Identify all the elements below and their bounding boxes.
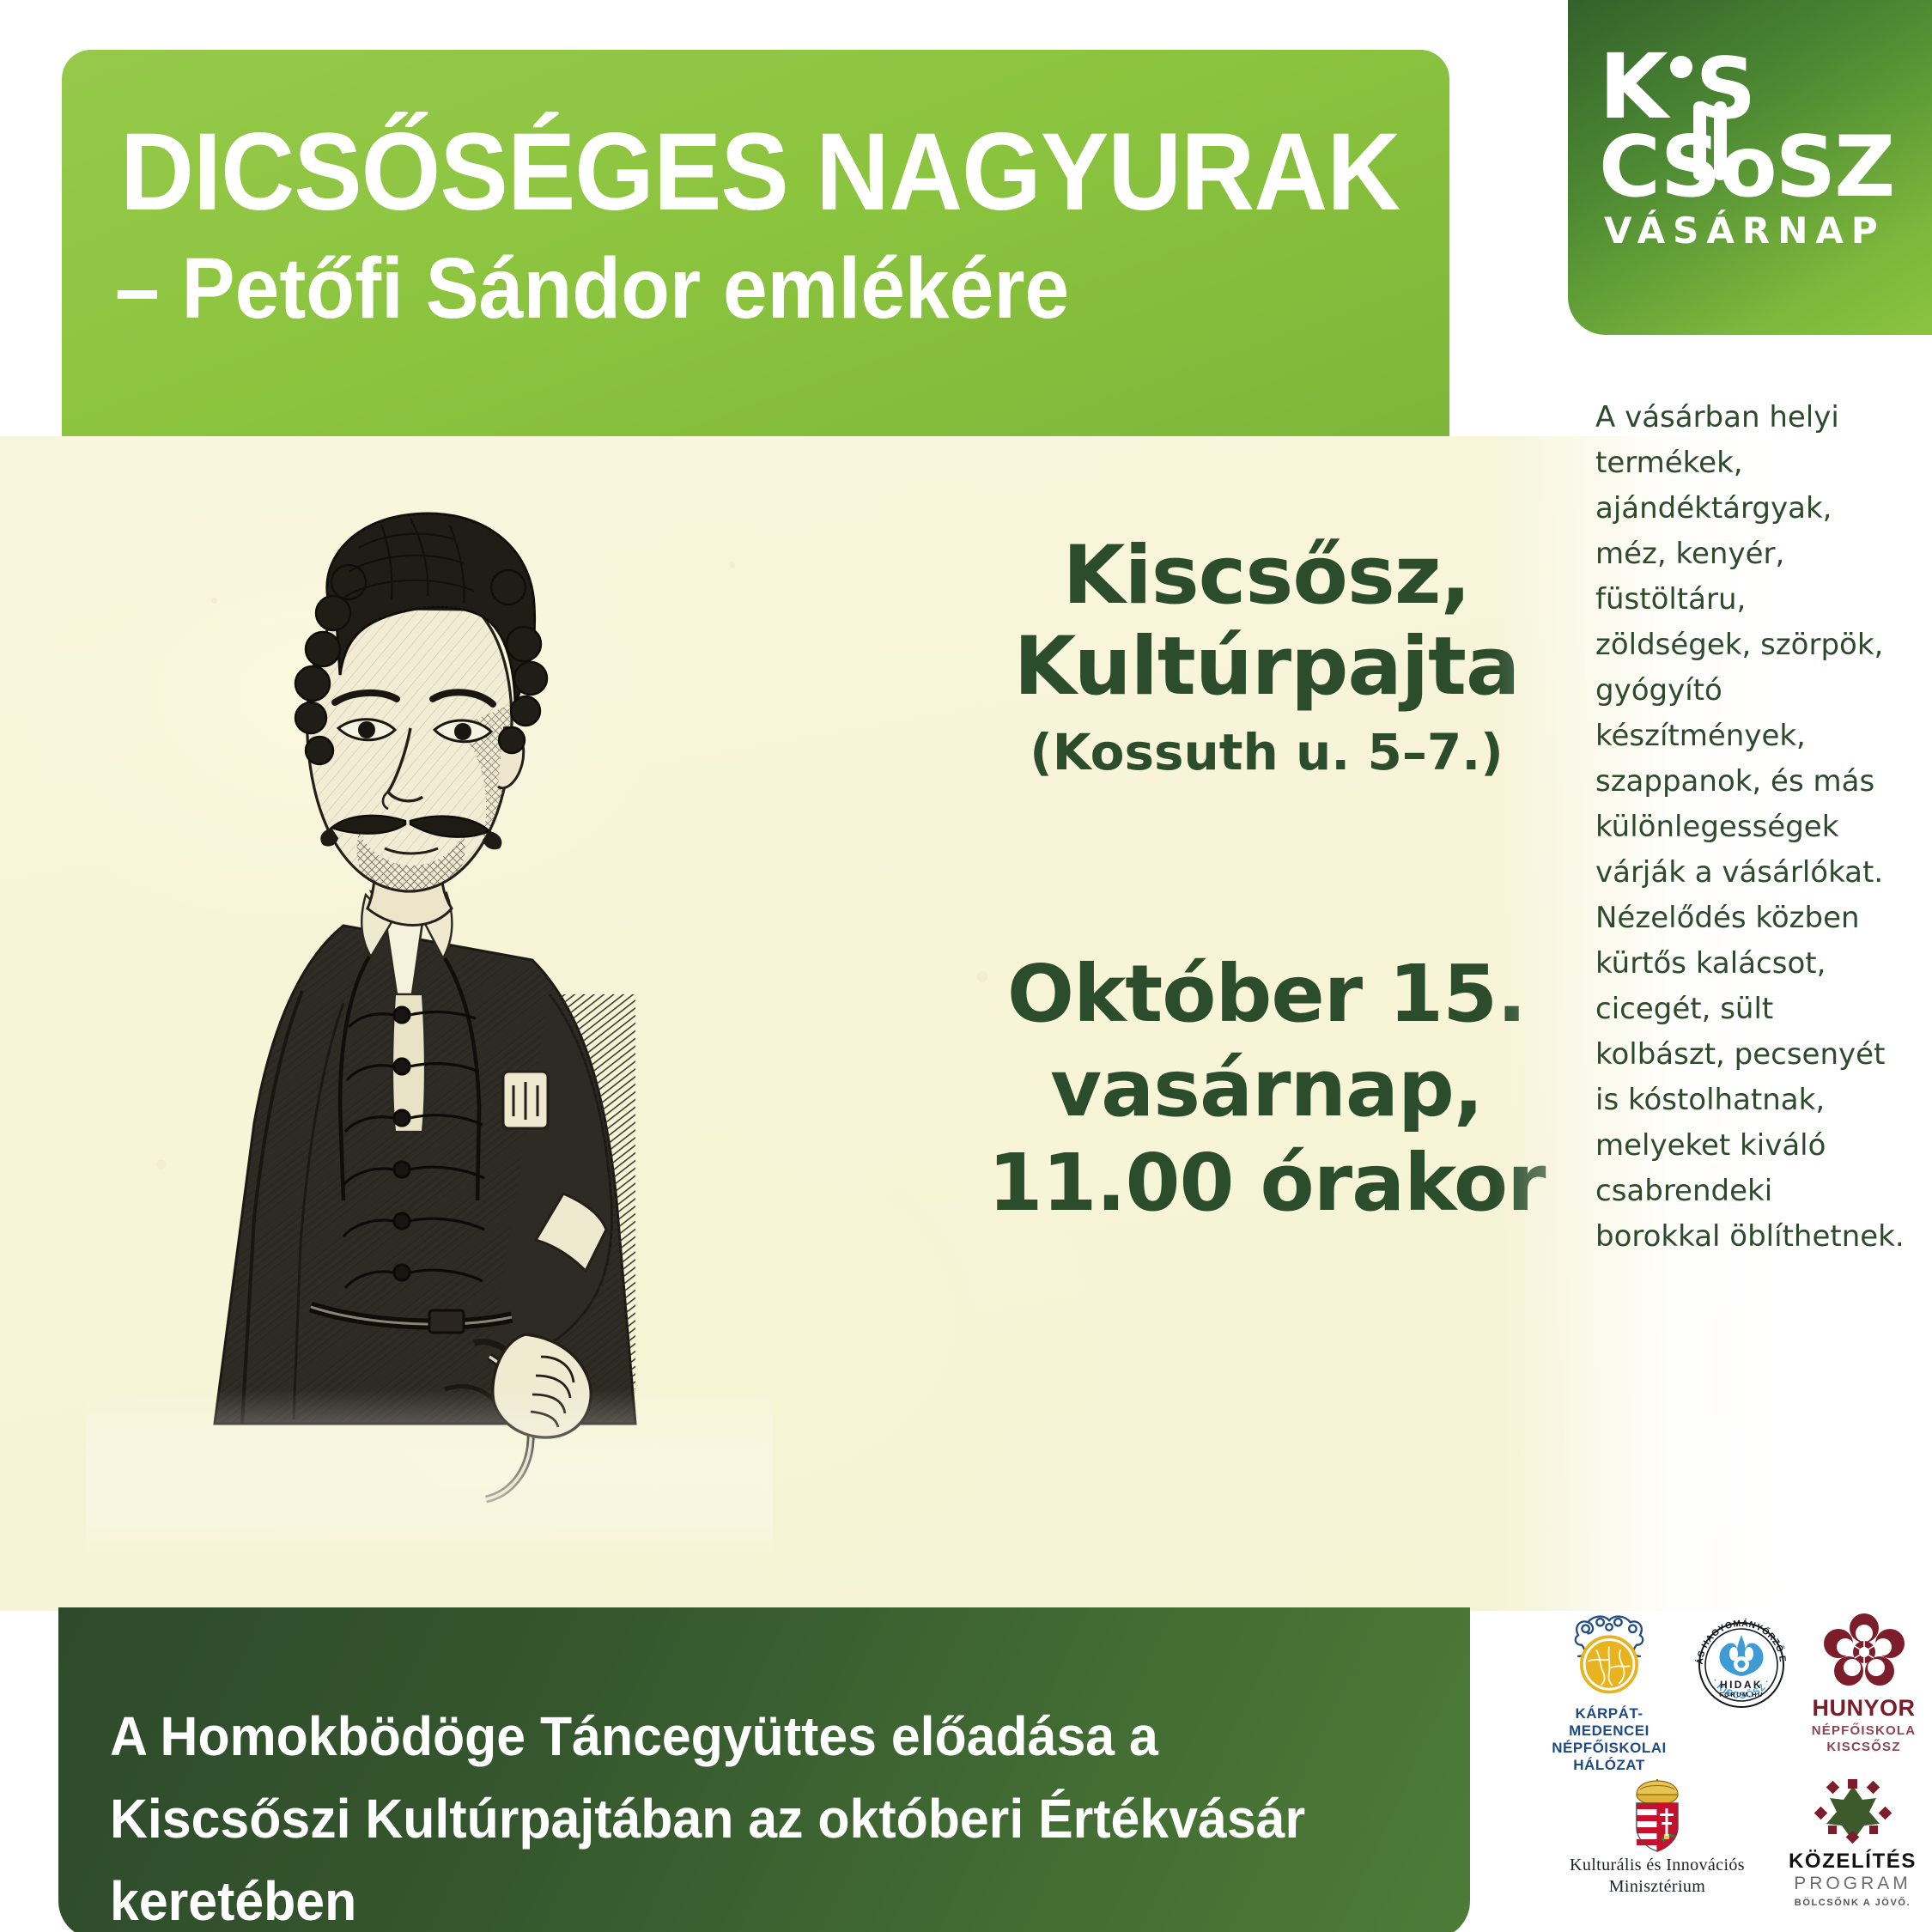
circular-seal-icon: ÉLŐ FORRÁS HAGYOMÁNYŐRZŐ EGYESÜLET · KIS… <box>1687 1611 1795 1719</box>
sponsor-row-bottom: Kulturális és Innovációs Minisztérium <box>1537 1779 1932 1932</box>
sponsor-karpat-medencei: KÁRPÁT-MEDENCEI NÉPFŐISKOLAI HÁLÓZAT <box>1537 1611 1681 1774</box>
sponsor-hunyor-title: HUNYOR <box>1812 1695 1915 1722</box>
sponsor-hunyor-subtitle: NÉPFŐISKOLA KISCSŐSZ <box>1812 1723 1917 1756</box>
logo-row-vasarnap: VÁSÁRNAP <box>1604 213 1886 249</box>
venue-line-2: Kultúrpajta <box>987 622 1546 713</box>
page-subtitle: – Petőfi Sándor emlékére <box>115 246 1069 331</box>
svg-text:FÓRUM.HU: FÓRUM.HU <box>1719 1691 1764 1698</box>
petofi-portrait-image <box>86 445 773 1552</box>
star-motif-icon <box>1813 1779 1893 1848</box>
svg-text:HIDAK: HIDAK <box>1720 1679 1763 1691</box>
bottom-banner: A Homokbödöge Táncegyüttes előadása a Ki… <box>58 1607 1470 1932</box>
fair-description: A vásárban helyi termékek, ajándéktárgya… <box>1595 395 1905 1260</box>
content-panel: Kiscsősz, Kultúrpajta (Kossuth u. 5–7.) … <box>0 436 1786 1611</box>
page-title: DICSŐSÉGES NAGYURAK <box>120 122 1400 223</box>
sponsor-kozelites-program: KÖZELÍTÉS PROGRAM BÖLCSŐNK A JÖVŐ. <box>1777 1779 1928 1932</box>
weekday-line: vasárnap, <box>987 1042 1546 1136</box>
poster-root: DICSŐSÉGES NAGYURAK – Petőfi Sándor emlé… <box>0 0 1932 1932</box>
date-line: Október 15. <box>987 947 1546 1042</box>
sponsor-hidak-forum: ÉLŐ FORRÁS HAGYOMÁNYŐRZŐ EGYESÜLET · KIS… <box>1681 1611 1801 1774</box>
dot-i-icon <box>1670 56 1692 78</box>
sponsor-kozelites-title: KÖZELÍTÉS <box>1789 1850 1917 1874</box>
venue-address: (Kossuth u. 5–7.) <box>987 725 1546 780</box>
sponsor-kozelites-subtitle: PROGRAM <box>1794 1874 1911 1895</box>
sponsor-karpat-caption: KÁRPÁT-MEDENCEI NÉPFŐISKOLAI HÁLÓZAT <box>1537 1705 1681 1774</box>
kiscsosz-vasarnap-logo: KS CSoSZ VÁSÁRNAP <box>1599 45 1856 259</box>
logo-row-csosz: CSoSZ <box>1599 125 1893 210</box>
globe-ornament-icon <box>1558 1611 1661 1702</box>
sponsor-kulturalis-miniszterium: Kulturális és Innovációs Minisztérium <box>1537 1779 1777 1932</box>
sponsor-row-top: KÁRPÁT-MEDENCEI NÉPFŐISKOLAI HÁLÓZAT ÉLŐ… <box>1537 1611 1932 1774</box>
hungarian-coat-of-arms-icon <box>1626 1779 1688 1853</box>
sponsor-hunyor: HUNYOR NÉPFŐISKOLA KISCSŐSZ <box>1801 1611 1926 1774</box>
venue-block: Kiscsősz, Kultúrpajta (Kossuth u. 5–7.) <box>987 531 1546 780</box>
time-line: 11.00 órakor <box>987 1136 1546 1230</box>
sponsor-kozelites-tagline: BÖLCSŐNK A JÖVŐ. <box>1795 1898 1911 1909</box>
header-panel: DICSŐSÉGES NAGYURAK – Petőfi Sándor emlé… <box>62 50 1449 436</box>
venue-line-1: Kiscsősz, <box>987 531 1546 622</box>
sponsor-kim-caption: Kulturális és Innovációs Minisztérium <box>1570 1855 1745 1898</box>
brand-block: KS CSoSZ VÁSÁRNAP <box>1568 0 1932 335</box>
rosette-icon <box>1820 1611 1909 1693</box>
banner-text: A Homokbödöge Táncegyüttes előadása a Ki… <box>110 1695 1350 1932</box>
sponsor-logos: KÁRPÁT-MEDENCEI NÉPFŐISKOLAI HÁLÓZAT ÉLŐ… <box>1537 1611 1932 1932</box>
datetime-block: Október 15. vasárnap, 11.00 órakor <box>987 947 1546 1230</box>
